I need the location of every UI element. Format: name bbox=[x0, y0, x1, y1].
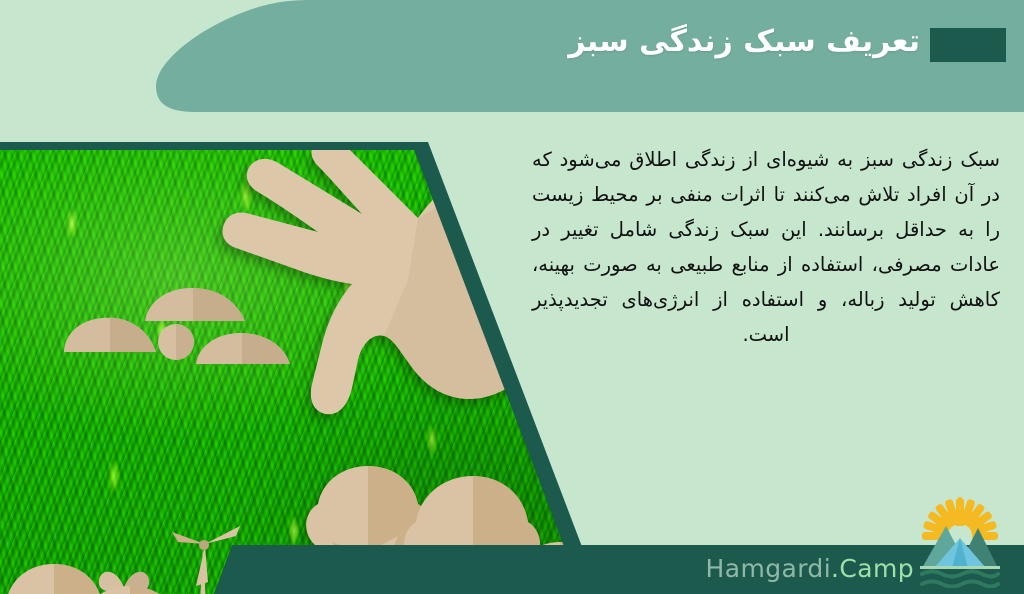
body-paragraph: سبک زندگی سبز به شیوه‌ای از زندگی اطلاق … bbox=[532, 142, 1000, 352]
illustration-clip bbox=[0, 142, 600, 594]
illustration-panel bbox=[0, 142, 600, 594]
brand-suffix: .Camp bbox=[831, 554, 914, 583]
brand-name: Hamgardi bbox=[706, 554, 832, 583]
slide-canvas: تعریف سبک زندگی سبز سبک زندگی سبز به شیو… bbox=[0, 0, 1024, 594]
hand-planting-icon bbox=[222, 148, 522, 478]
sun-icon bbox=[156, 322, 196, 362]
brand-wordmark: Hamgardi.Camp bbox=[706, 554, 914, 583]
hamgardi-camp-logo bbox=[918, 492, 1002, 588]
page-title: تعریف سبک زندگی سبز bbox=[568, 24, 920, 59]
title-accent-block bbox=[930, 28, 1006, 62]
